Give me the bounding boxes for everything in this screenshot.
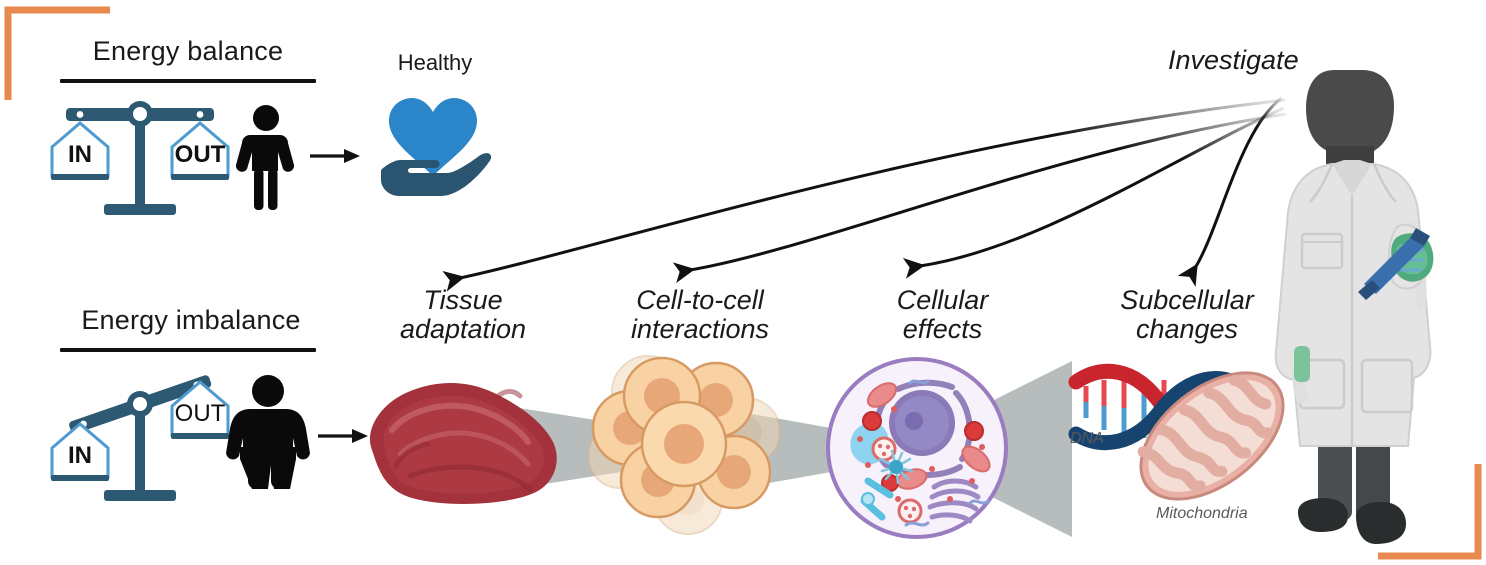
- stage-label-tissue-line2: adaptation: [368, 315, 558, 344]
- energy-imbalance-underline: [60, 348, 316, 352]
- figure-canvas: Energy balance IN OUT Healthy Energy imb…: [0, 0, 1486, 565]
- cell-cluster-icon: [596, 352, 796, 527]
- investigate-arrow-group: [420, 78, 1300, 298]
- mitochondria-label: Mitochondria: [1156, 505, 1248, 523]
- pan-in-label-bottom: IN: [68, 442, 92, 469]
- healthy-label: Healthy: [370, 50, 500, 76]
- energy-balance-title: Energy balance: [64, 36, 312, 67]
- pan-in-label-top: IN: [68, 141, 92, 168]
- muscle-tissue-icon: [350, 358, 580, 513]
- obese-person-icon: [226, 375, 310, 490]
- energy-imbalance-title: Energy imbalance: [56, 305, 326, 336]
- pan-out-label-bottom: OUT: [175, 400, 226, 427]
- arrow-to-cellcell-stage: [690, 114, 1286, 270]
- scientist-with-pipette-icon: [1248, 60, 1458, 548]
- arrow-to-tissue-stage: [460, 100, 1285, 278]
- stage-label-cellular-line2: effects: [855, 315, 1030, 344]
- dna-label: DNA: [1070, 430, 1104, 448]
- arrow-to-healthy: [310, 145, 364, 167]
- energy-balance-underline: [60, 79, 316, 83]
- stage-label-cell-to-cell-line2: interactions: [590, 315, 810, 344]
- balanced-scale-icon: IN OUT: [44, 92, 236, 217]
- single-cell-icon: [824, 355, 1010, 541]
- imbalanced-scale-icon: IN OUT: [44, 370, 236, 505]
- pan-out-label-top: OUT: [175, 141, 226, 168]
- thin-person-icon: [231, 105, 301, 211]
